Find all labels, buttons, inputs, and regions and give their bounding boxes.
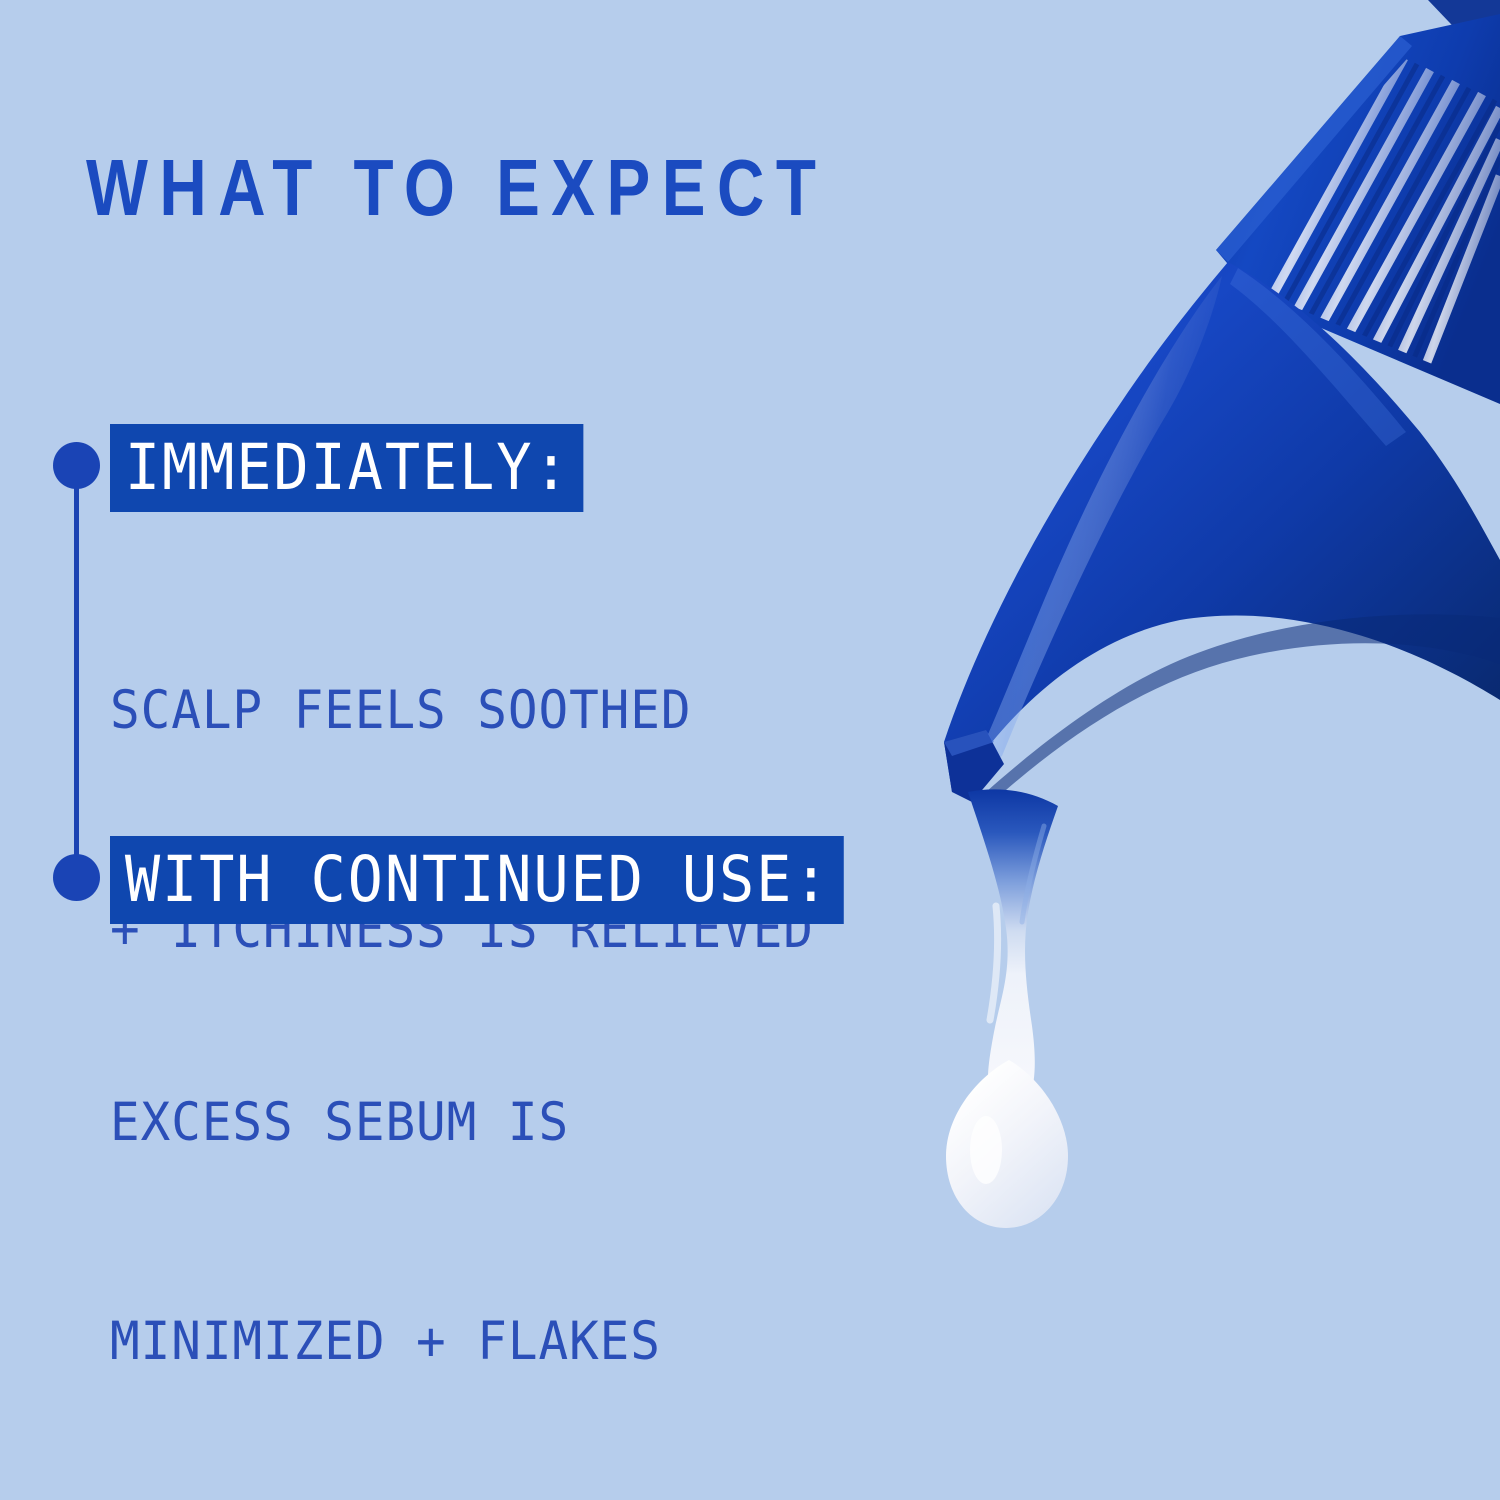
promo-graphic: WHAT TO EXPECT IMMEDIATELY: SCALP FEELS … xyxy=(0,0,1500,1500)
applicator-cap xyxy=(1216,14,1500,404)
body-line: SCALP FEELS SOOTHED xyxy=(110,674,814,747)
page-title: WHAT TO EXPECT xyxy=(86,148,827,228)
body-line: EXCESS SEBUM IS xyxy=(110,1086,843,1159)
serum-drip xyxy=(946,789,1068,1228)
step-2-marker-icon xyxy=(53,854,100,901)
timeline-line xyxy=(74,464,79,882)
timeline-connector xyxy=(53,440,103,910)
body-line: MINIMIZED + FLAKES xyxy=(110,1305,843,1378)
section-continued-use-body: EXCESS SEBUM IS MINIMIZED + FLAKES ARE E… xyxy=(110,940,843,1500)
step-1-marker-icon xyxy=(53,442,100,489)
section-continued-use: WITH CONTINUED USE: EXCESS SEBUM IS MINI… xyxy=(110,836,899,1500)
applicator-nozzle xyxy=(944,262,1500,802)
section-immediately-label: IMMEDIATELY: xyxy=(110,424,584,512)
section-continued-use-label: WITH CONTINUED USE: xyxy=(110,836,843,924)
